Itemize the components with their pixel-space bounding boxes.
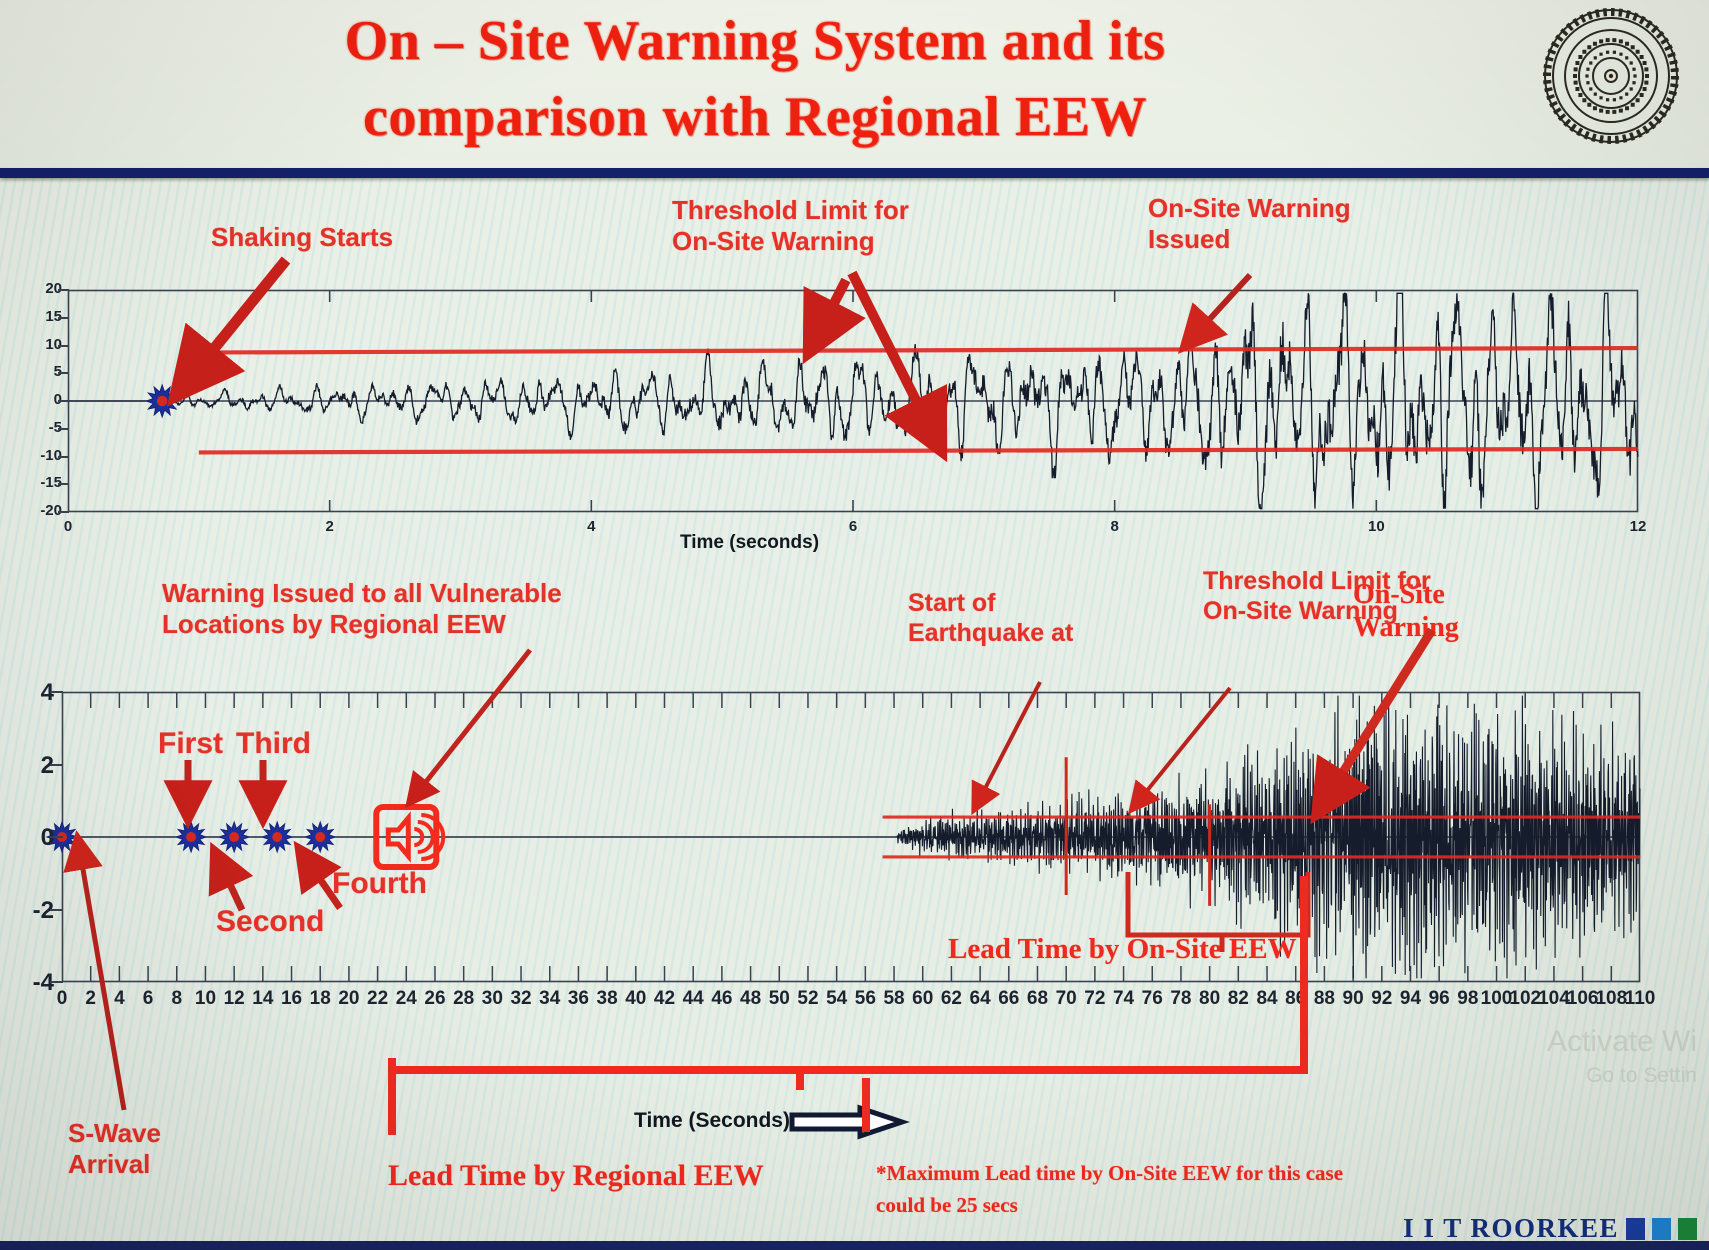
top-y-tick — [58, 456, 69, 458]
top-chart — [68, 290, 1638, 512]
brand-square-3 — [1678, 1218, 1697, 1240]
soe-line1: S-Wave — [68, 1118, 161, 1149]
epicenter-star-icon — [219, 822, 249, 852]
top-y-tick-label: 20 — [22, 280, 62, 297]
brand-square-1 — [1626, 1218, 1645, 1240]
bottom-y-tick — [50, 691, 63, 693]
annotation-third: Third — [236, 726, 311, 761]
top-y-tick-label: 0 — [22, 391, 62, 408]
bottom-y-tick-label: 0 — [22, 824, 54, 852]
threshold-b-line1: Start of — [908, 589, 1073, 619]
warning-line1: On-Site Warning — [1148, 193, 1351, 224]
watermark-line-1: Activate Wi — [1547, 1025, 1697, 1059]
swave-line1: On-Site — [1353, 578, 1459, 611]
top-y-tick — [58, 483, 69, 485]
epicenter-star-icon — [176, 822, 206, 852]
epicenter-star-icon — [262, 822, 292, 852]
top-x-tick-label: 10 — [1356, 518, 1396, 535]
annotation-onsite-warning-issued-top: On-Site Warning Issued — [1148, 193, 1351, 254]
top-y-tick — [58, 400, 69, 402]
header-divider — [0, 168, 1709, 178]
broadcast-warning-icon — [376, 807, 443, 867]
annotation-shaking-starts: Shaking Starts — [211, 222, 393, 253]
bottom-y-tick-label: 2 — [22, 752, 54, 780]
bottom-y-tick-label: -2 — [22, 897, 54, 925]
soe-line2: Arrival — [68, 1149, 161, 1180]
regional-line2: Locations by Regional EEW — [162, 609, 562, 640]
top-y-tick-label: -20 — [22, 502, 62, 519]
top-chart-plot — [68, 290, 1638, 512]
top-x-tick-label: 2 — [310, 518, 350, 535]
annotation-second: Second — [216, 904, 324, 939]
annotation-fourth: Fourth — [332, 866, 427, 901]
top-y-tick-label: -5 — [22, 419, 62, 436]
threshold-b-line2: Earthquake at — [908, 619, 1073, 649]
annotation-lead-time-regional: Lead Time by Regional EEW — [388, 1158, 764, 1193]
annotation-threshold-limit-bottom: Start of Earthquake at — [908, 589, 1073, 648]
top-y-tick-label: 5 — [22, 363, 62, 380]
footer-bar — [0, 1241, 1709, 1250]
top-x-tick-label: 4 — [571, 518, 611, 535]
threshold-line1: Threshold Limit for — [672, 195, 909, 226]
warning-line2: Issued — [1148, 224, 1351, 255]
page-title: On – Site Warning System and its compari… — [170, 4, 1340, 155]
title-line-1: On – Site Warning System and its — [170, 4, 1340, 80]
annotation-first: First — [158, 726, 223, 761]
watermark-line-2: Go to Settin — [1586, 1064, 1697, 1088]
top-y-tick-label: -10 — [22, 447, 62, 464]
annotation-regional-eew-warning: Warning Issued to all Vulnerable Locatio… — [162, 578, 562, 639]
slide-canvas: On – Site Warning System and its compari… — [0, 0, 1709, 1250]
iit-roorkee-emblem-icon — [1541, 6, 1681, 146]
bottom-y-tick — [50, 764, 63, 766]
bottom-y-tick — [50, 909, 63, 911]
epicenter-star-icon — [305, 822, 335, 852]
brand-square-2 — [1652, 1218, 1671, 1240]
footnote-line2: could be 25 secs — [876, 1190, 1343, 1222]
annotation-start-of-earthquake-epicenter: S-Wave Arrival — [68, 1118, 161, 1179]
top-x-tick-label: 6 — [833, 518, 873, 535]
bottom-y-tick — [50, 836, 63, 838]
iit-roorkee-footer-brand: I I T ROORKEE — [1403, 1213, 1697, 1244]
bottom-chart-axis-title: Time (Seconds) — [634, 1109, 790, 1133]
top-y-tick-label: 10 — [22, 336, 62, 353]
epicenter-star-icon — [146, 385, 178, 417]
top-y-tick — [58, 511, 69, 513]
top-x-tick-label: 8 — [1095, 518, 1135, 535]
top-y-tick — [58, 289, 69, 291]
annotation-footnote: *Maximum Lead time by On-Site EEW for th… — [876, 1158, 1343, 1221]
top-x-tick-label: 0 — [48, 518, 88, 535]
bottom-x-tick-label: 110 — [1623, 988, 1657, 1010]
title-line-2: comparison with Regional EEW — [170, 80, 1340, 156]
bottom-y-tick — [50, 981, 63, 983]
threshold-line2: On-Site Warning — [672, 226, 909, 257]
bottom-y-tick-label: 4 — [22, 679, 54, 707]
top-chart-axis-title: Time (seconds) — [680, 532, 819, 554]
time-direction-arrow-icon — [790, 1106, 920, 1140]
swave-line2: Warning — [1353, 611, 1459, 644]
annotation-s-wave-arrival: On-Site Warning — [1353, 578, 1459, 644]
top-y-tick — [58, 345, 69, 347]
top-y-tick — [58, 372, 69, 374]
top-y-tick — [58, 317, 69, 319]
annotation-lead-time-onsite: Lead Time by On-Site EEW — [948, 932, 1297, 966]
regional-line1: Warning Issued to all Vulnerable — [162, 578, 562, 609]
slide-header: On – Site Warning System and its compari… — [0, 0, 1709, 172]
top-x-tick-label: 12 — [1618, 518, 1658, 535]
footnote-line1: *Maximum Lead time by On-Site EEW for th… — [876, 1158, 1343, 1190]
top-y-tick — [58, 428, 69, 430]
top-y-tick-label: -15 — [22, 474, 62, 491]
annotation-threshold-limit-top: Threshold Limit for On-Site Warning — [672, 195, 909, 256]
top-y-tick-label: 15 — [22, 308, 62, 325]
brand-text: I I T ROORKEE — [1403, 1213, 1619, 1244]
